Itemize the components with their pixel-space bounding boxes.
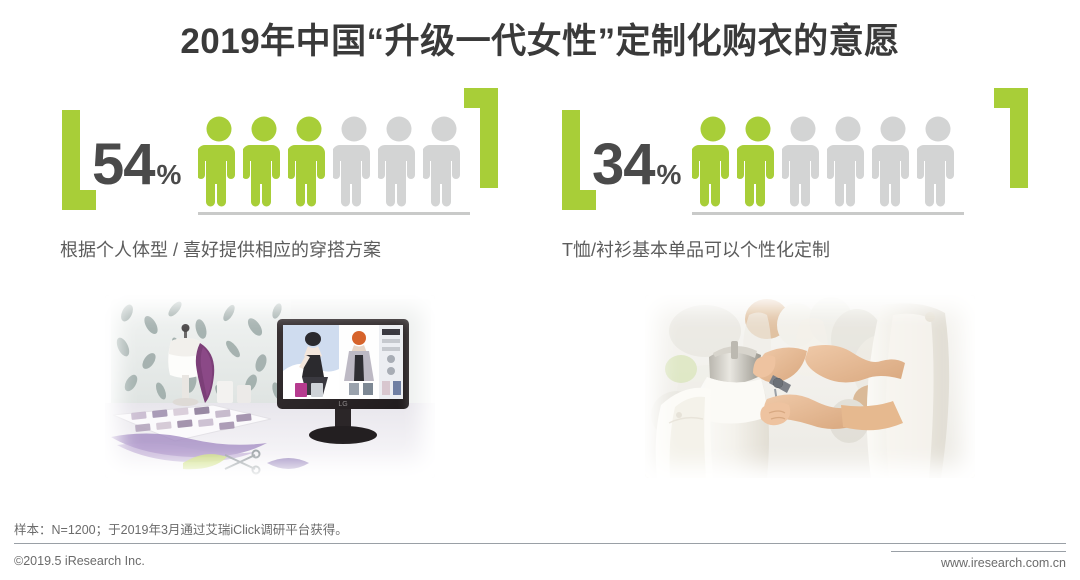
tailor-pinning-dress-form-photo — [645, 295, 975, 478]
person-icon — [872, 116, 914, 208]
person-icon — [423, 116, 465, 208]
percent-sign: % — [657, 161, 682, 189]
person-icon — [288, 116, 330, 208]
percent-number: 34 — [592, 136, 655, 194]
workspace-illustration: LG — [105, 295, 435, 478]
person-icon — [737, 116, 779, 208]
percentage-value-left: 54 % — [92, 136, 181, 194]
tailoring-illustration — [645, 295, 975, 478]
caption-custom-basics: T恤/衬衫基本单品可以个性化定制 — [540, 236, 1080, 262]
percent-number: 54 — [92, 136, 155, 194]
right-bracket-icon — [464, 88, 498, 188]
person-icon — [333, 116, 375, 208]
page-header: 2019年中国“升级一代女性”定制化购衣的意愿 — [0, 8, 1080, 68]
website-link[interactable]: www.iresearch.com.cn — [891, 556, 1066, 570]
photos-row: LG — [0, 295, 1080, 485]
percent-sign: % — [157, 161, 182, 189]
photo-wrap-right — [540, 295, 1080, 485]
person-icon — [827, 116, 869, 208]
caption-right-wrap: T恤/衬衫基本单品可以个性化定制 — [540, 236, 1080, 272]
person-icon — [782, 116, 824, 208]
person-icon — [692, 116, 734, 208]
pictogram-people-right — [692, 116, 959, 208]
sample-note: 样本：N=1200；于2019年3月通过艾瑞iClick调研平台获得。 — [0, 519, 1080, 543]
page-footer: 样本：N=1200；于2019年3月通过艾瑞iClick调研平台获得。 ©201… — [0, 519, 1080, 580]
page-title: 2019年中国“升级一代女性”定制化购衣的意愿 — [180, 13, 899, 64]
website-wrap: www.iresearch.com.cn — [891, 551, 1066, 570]
fashion-design-workspace-photo: LG — [105, 295, 435, 478]
pictogram-baseline — [198, 212, 470, 215]
person-icon — [198, 116, 240, 208]
photo-wrap-left: LG — [0, 295, 540, 485]
copyright-text: ©2019.5 iResearch Inc. — [14, 554, 145, 568]
pictogram-baseline — [692, 212, 964, 215]
person-icon — [917, 116, 959, 208]
caption-left-wrap: 根据个人体型 / 喜好提供相应的穿搭方案 — [0, 236, 540, 272]
website-divider — [891, 551, 1066, 552]
captions-row: 根据个人体型 / 喜好提供相应的穿搭方案 T恤/衬衫基本单品可以个性化定制 — [0, 236, 1080, 272]
percentage-value-right: 34 % — [592, 136, 681, 194]
person-icon — [378, 116, 420, 208]
caption-dress-advice: 根据个人体型 / 喜好提供相应的穿搭方案 — [0, 236, 540, 262]
person-icon — [243, 116, 285, 208]
svg-text:LG: LG — [338, 401, 347, 408]
left-bracket-icon — [62, 110, 96, 210]
right-bracket-icon — [994, 88, 1028, 188]
footer-row: ©2019.5 iResearch Inc. www.iresearch.com… — [0, 544, 1080, 580]
left-bracket-icon — [562, 110, 596, 210]
pictogram-people-left — [198, 116, 465, 208]
